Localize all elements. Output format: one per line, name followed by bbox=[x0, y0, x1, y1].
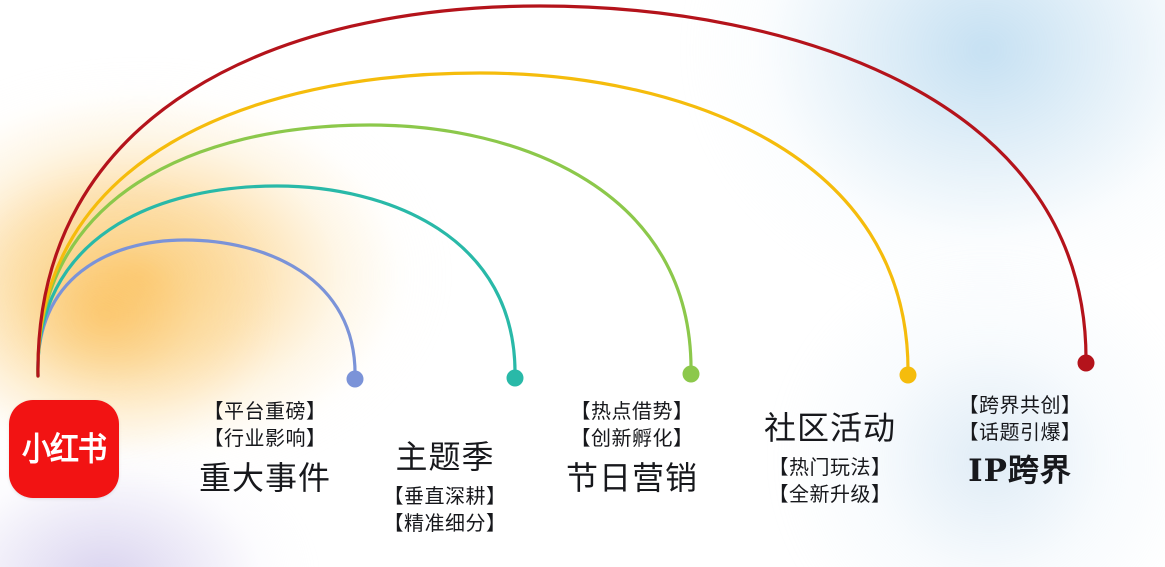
branch-tag-2-2: 【精准细分】 bbox=[350, 510, 540, 537]
branch-tag-4-2: 【全新升级】 bbox=[730, 481, 930, 508]
branch-title-2: 主题季 bbox=[350, 437, 540, 477]
branch-label-3[interactable]: 【热点借势】 【创新孵化】 节日营销 bbox=[537, 398, 727, 498]
arc-endpoint-dot-2[interactable] bbox=[507, 370, 524, 387]
branch-tag-3-2: 【创新孵化】 bbox=[537, 425, 727, 452]
arc-3 bbox=[38, 125, 691, 376]
arc-1 bbox=[38, 240, 355, 379]
branch-tag-1-1: 【平台重磅】 bbox=[170, 398, 360, 425]
arc-endpoint-dot-4[interactable] bbox=[900, 367, 917, 384]
branch-title-4: 社区活动 bbox=[730, 408, 930, 448]
branch-title-5: IP跨界 bbox=[920, 452, 1120, 491]
branch-tag-5-2: 【话题引爆】 bbox=[920, 419, 1120, 446]
branch-label-1[interactable]: 【平台重磅】 【行业影响】 重大事件 bbox=[170, 398, 360, 498]
branch-label-5[interactable]: 【跨界共创】 【话题引爆】 IP跨界 bbox=[920, 392, 1120, 491]
arc-4 bbox=[38, 73, 908, 376]
branch-tag-3-1: 【热点借势】 bbox=[537, 398, 727, 425]
branch-tag-1-2: 【行业影响】 bbox=[170, 425, 360, 452]
xiaohongshu-logo-text: 小红书 bbox=[22, 433, 106, 465]
branch-title-3: 节日营销 bbox=[537, 458, 727, 498]
arc-endpoint-dot-5[interactable] bbox=[1078, 355, 1095, 372]
branch-tag-2-1: 【垂直深耕】 bbox=[350, 483, 540, 510]
branch-tag-4-1: 【热门玩法】 bbox=[730, 454, 930, 481]
arc-2 bbox=[38, 186, 515, 378]
xiaohongshu-logo[interactable]: 小红书 bbox=[9, 400, 119, 498]
branch-title-1: 重大事件 bbox=[170, 458, 360, 498]
arc-5 bbox=[38, 6, 1086, 376]
arc-endpoint-dot-3[interactable] bbox=[683, 366, 700, 383]
arc-endpoint-dot-1[interactable] bbox=[347, 371, 364, 388]
infographic-canvas: 小红书 【平台重磅】 【行业影响】 重大事件 主题季 【垂直深耕】 【精准细分】… bbox=[0, 0, 1165, 567]
branch-tag-5-1: 【跨界共创】 bbox=[920, 392, 1120, 419]
branch-label-4[interactable]: 社区活动 【热门玩法】 【全新升级】 bbox=[730, 408, 930, 508]
branch-label-2[interactable]: 主题季 【垂直深耕】 【精准细分】 bbox=[350, 437, 540, 537]
